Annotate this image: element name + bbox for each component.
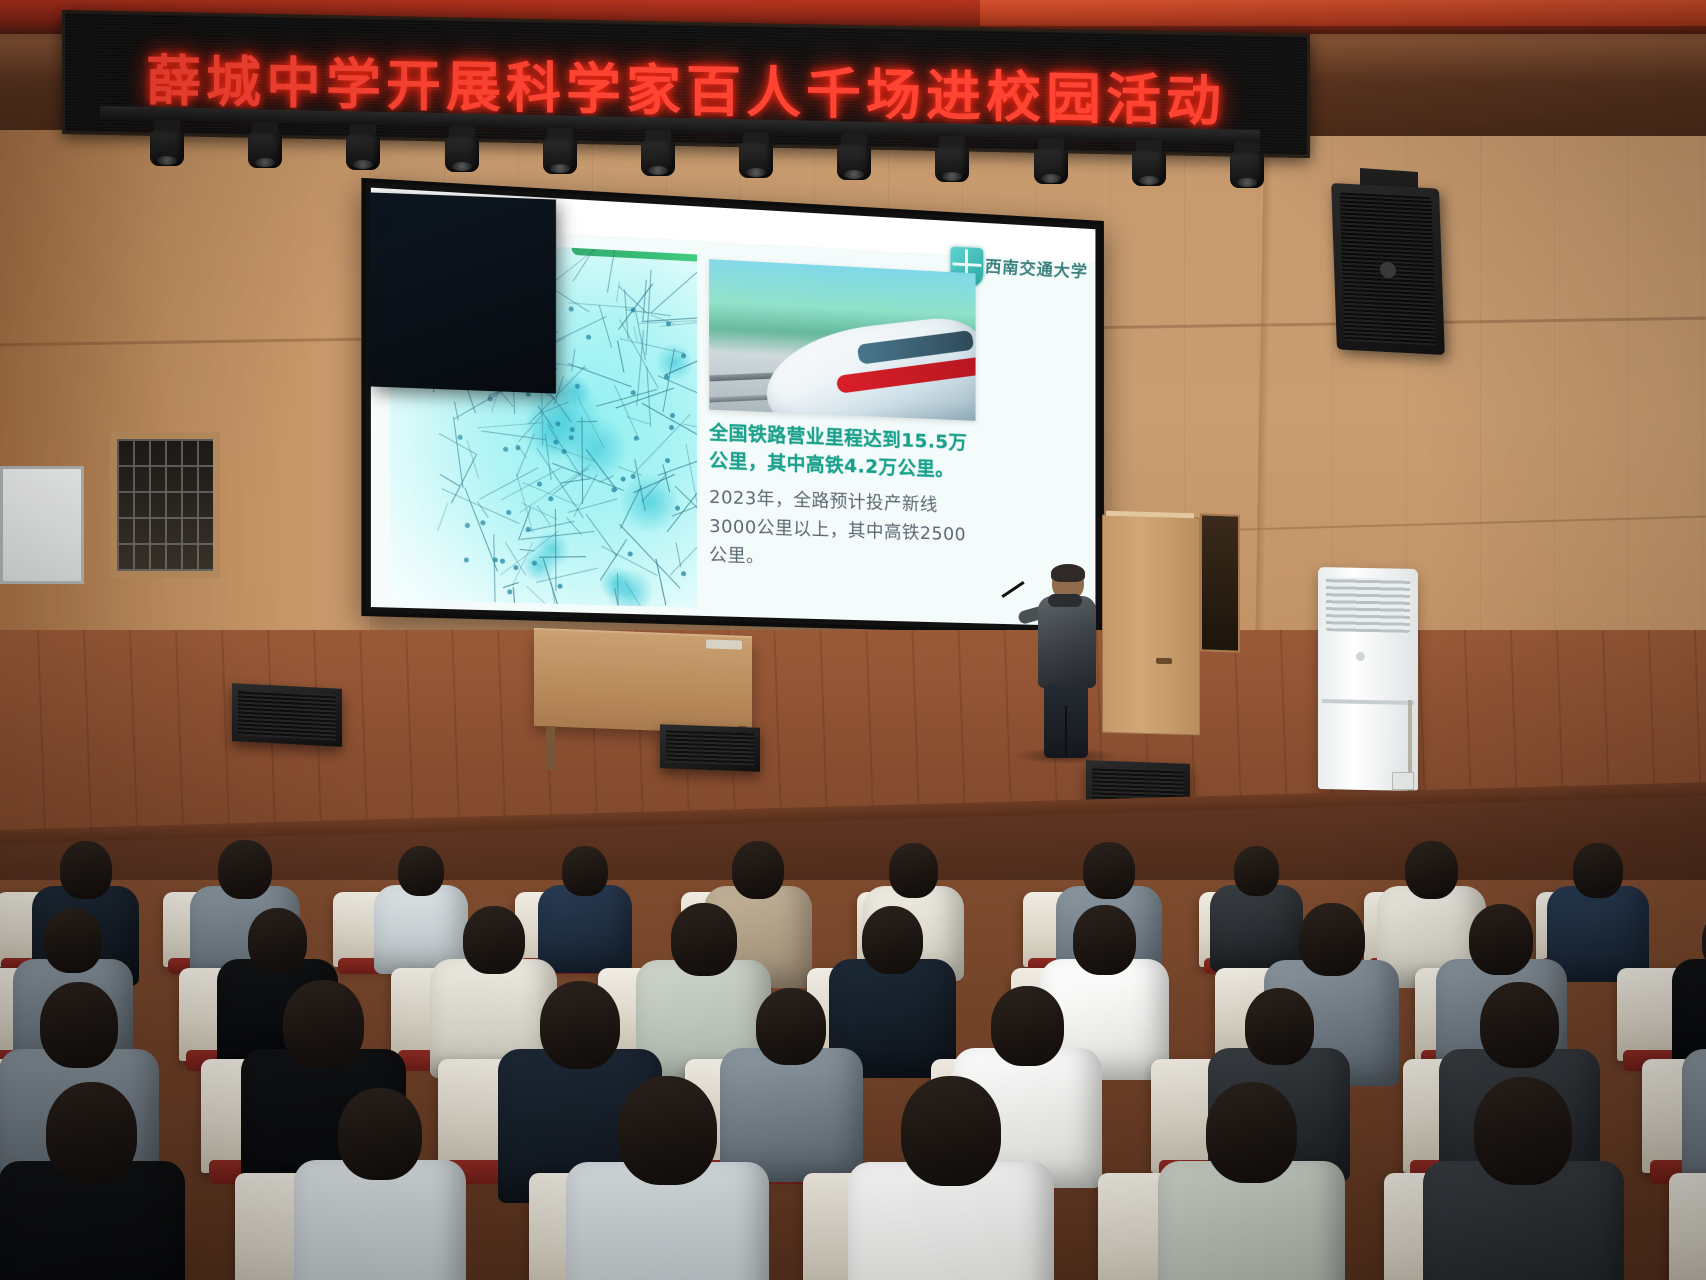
map-station-node (630, 390, 635, 395)
stage-spotlight (739, 132, 773, 184)
map-station-node (569, 307, 574, 312)
left-whiteboard (0, 466, 84, 584)
map-rail-line (599, 306, 612, 348)
stage-spotlight (837, 134, 871, 186)
audience-seat[interactable] (1669, 1173, 1706, 1280)
map-station-node (675, 505, 680, 510)
map-station-node (507, 510, 512, 515)
map-station-node (664, 374, 669, 379)
map-rail-line (440, 474, 460, 487)
audience-member (1423, 1077, 1624, 1280)
map-rail-line (513, 587, 517, 608)
map-station-node (681, 571, 686, 576)
map-station-node (513, 565, 518, 570)
map-station-node (465, 523, 470, 528)
stage-spotlight (1230, 142, 1264, 194)
audience-member-head (1073, 905, 1136, 974)
stage-spotlight (1034, 138, 1068, 190)
stage-spotlight (445, 126, 479, 178)
map-station-node (500, 558, 505, 563)
audience-member-head (862, 906, 924, 974)
map-rail-line (451, 454, 477, 504)
audience-member-head (1573, 843, 1623, 898)
audience-member-head (1469, 904, 1533, 975)
audience-member-torso (1682, 1049, 1706, 1191)
floor-monitor-center (660, 724, 760, 771)
map-station-node (666, 321, 671, 326)
audience-member-head (283, 980, 363, 1068)
audience-member-head (618, 1076, 717, 1185)
audience-member-head (338, 1088, 422, 1181)
map-station-node (556, 421, 561, 426)
map-station-node (503, 446, 508, 451)
map-station-node (670, 413, 675, 418)
map-rail-line (670, 528, 697, 575)
map-rail-line (572, 238, 612, 282)
table-item (706, 639, 742, 649)
audience-member-head (1299, 903, 1365, 976)
map-station-node (480, 520, 485, 525)
audience-member-head (756, 988, 826, 1065)
high-speed-train-photo (709, 259, 975, 421)
map-station-node (458, 435, 463, 440)
map-station-node (492, 557, 497, 562)
audience-member-head (732, 841, 785, 899)
map-rail-line (522, 482, 578, 506)
audience-member-head (463, 906, 525, 974)
table-leg-left (546, 726, 555, 770)
stage-spotlight (248, 122, 282, 174)
audience-member-head (218, 840, 271, 899)
map-station-node (575, 384, 580, 389)
audience-member-head (1474, 1077, 1572, 1185)
stage-spotlight (150, 120, 184, 172)
audience-member-head (889, 843, 938, 897)
audience-member (848, 1076, 1053, 1280)
map-station-node (507, 589, 512, 594)
map-station-node (532, 560, 537, 565)
map-rail-line (453, 416, 464, 488)
window-bars (117, 439, 213, 571)
audience-member (1158, 1082, 1345, 1280)
slide-text-block: 全国铁路营业里程达到15.5万 公里，其中高铁4.2万公里。 2023年，全路预… (709, 420, 1000, 578)
left-window (110, 432, 220, 578)
audience-member-head (1245, 988, 1314, 1064)
ac-indicator-light (1356, 652, 1365, 661)
map-station-node (633, 435, 638, 440)
map-station-node (681, 353, 686, 358)
audience-member-head (46, 1082, 137, 1183)
audience-member-head (1405, 841, 1458, 899)
audience-member-head (1206, 1082, 1297, 1182)
audience-member-head (248, 908, 307, 973)
map-rail-line (642, 280, 647, 321)
stage-spotlight (935, 136, 969, 188)
audience-member (0, 1082, 185, 1280)
map-rail-line (585, 514, 617, 557)
map-station-node (611, 488, 616, 493)
map-rail-line (561, 478, 591, 483)
map-station-node (665, 458, 670, 463)
speaker-driver (1380, 262, 1397, 279)
floor-monitor-left (232, 683, 342, 747)
map-rail-line (437, 502, 448, 530)
ac-vent-grille (1326, 577, 1410, 633)
map-station-node (570, 427, 575, 432)
map-station-node (669, 425, 674, 430)
map-station-node (488, 396, 493, 401)
audience-member-head (540, 981, 620, 1069)
map-station-node (586, 335, 591, 340)
wall-mounted-speaker (1331, 183, 1445, 355)
presenter-torso (1038, 596, 1096, 688)
map-station-node (464, 557, 469, 562)
stage-spotlight (641, 130, 675, 182)
audience-member (294, 1088, 466, 1280)
map-station-node (548, 496, 553, 501)
presenter-hair (1051, 564, 1085, 582)
map-rail-line (566, 517, 582, 535)
audience-member-head (901, 1076, 1001, 1186)
map-station-node (558, 584, 563, 589)
map-station-node (627, 551, 632, 556)
audience-member-head (1083, 842, 1135, 899)
wall-vent-window (1200, 513, 1240, 652)
audience-member-head (60, 841, 112, 898)
speaker-presenter (1022, 566, 1108, 756)
presenter-collar (1048, 594, 1082, 607)
map-rail-line (571, 349, 575, 371)
audience-member (566, 1076, 769, 1280)
audience-member-head (991, 986, 1064, 1066)
stage-spotlight (1132, 140, 1166, 192)
map-rail-line (617, 340, 624, 372)
map-station-node (525, 527, 530, 532)
audience-member-head (40, 982, 118, 1068)
audience-member-head (398, 846, 444, 897)
map-station-node (537, 482, 542, 487)
door-handle[interactable] (1156, 658, 1172, 664)
audience-member-head (1480, 982, 1558, 1068)
map-rail-line (441, 488, 519, 524)
presenter-leg-split (1065, 706, 1067, 756)
audience-member-head (1234, 846, 1279, 896)
map-rail-line (493, 534, 496, 608)
map-rail-line (656, 559, 667, 606)
wall-display-panel (370, 192, 556, 393)
audience-member-head (562, 846, 607, 896)
map-rail-line (651, 262, 697, 313)
map-rail-line (633, 326, 638, 342)
stage-spotlight (543, 128, 577, 180)
side-door[interactable] (1102, 515, 1200, 736)
ceiling-red-light-strip-right (980, 0, 1706, 26)
map-station-node (569, 435, 574, 440)
wall-power-outlet (1392, 772, 1414, 790)
map-station-node (562, 449, 567, 454)
stage-spotlight (346, 124, 380, 176)
auditorium-scene: 薛城中学开展科学家百人千场进校园活动 西南交通大学 (0, 0, 1706, 1280)
audience-member-head (44, 908, 103, 973)
slide-university-name: 西南交通大学 (984, 252, 1088, 282)
audience-member-head (671, 903, 737, 976)
map-station-node (620, 476, 625, 481)
